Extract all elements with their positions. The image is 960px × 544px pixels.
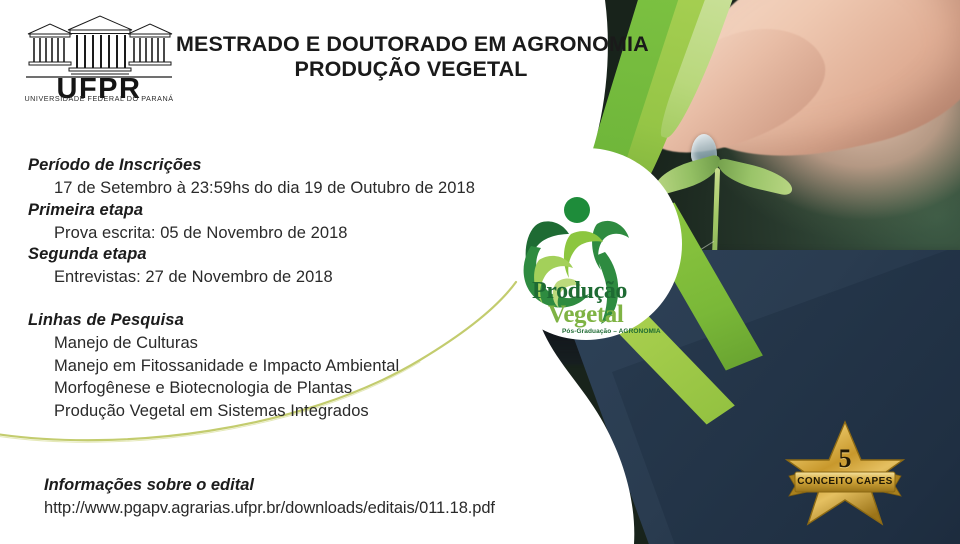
section-heading-primeira-etapa: Primeira etapa bbox=[28, 200, 528, 222]
research-item: Manejo em Fitossanidade e Impacto Ambien… bbox=[28, 355, 548, 378]
research-item: Morfogênese e Biotecnologia de Plantas bbox=[28, 377, 548, 400]
ufpr-logo: UFPR UNIVERSIDADE FEDERAL DO PARANÁ bbox=[24, 12, 174, 104]
pv-word-producao: Produção bbox=[532, 280, 672, 303]
section-item-inscricoes: 17 de Setembro à 23:59hs do dia 19 de Ou… bbox=[28, 177, 528, 200]
section-item-primeira-etapa: Prova escrita: 05 de Novembro de 2018 bbox=[28, 222, 528, 245]
schedule-block: Período de Inscrições 17 de Setembro à 2… bbox=[28, 155, 528, 289]
research-item: Manejo de Culturas bbox=[28, 332, 548, 355]
research-heading: Linhas de Pesquisa bbox=[28, 310, 548, 332]
edital-info-block: Informações sobre o edital http://www.pg… bbox=[44, 474, 604, 520]
edital-heading: Informações sobre o edital bbox=[44, 474, 604, 497]
poster-title: MESTRADO E DOUTORADO EM AGRONOMIA PRODUÇ… bbox=[176, 32, 646, 83]
research-lines-block: Linhas de Pesquisa Manejo de Culturas Ma… bbox=[28, 310, 548, 423]
ufpr-building-icon: UFPR bbox=[24, 12, 174, 104]
gold-star-icon bbox=[781, 418, 909, 530]
title-line-1: MESTRADO E DOUTORADO EM AGRONOMIA bbox=[176, 32, 646, 57]
edital-url-link[interactable]: http://www.pgapv.agrarias.ufpr.br/downlo… bbox=[44, 497, 604, 520]
section-item-segunda-etapa: Entrevistas: 27 de Novembro de 2018 bbox=[28, 266, 528, 289]
pv-word-vegetal: Vegetal bbox=[532, 303, 672, 327]
section-heading-segunda-etapa: Segunda etapa bbox=[28, 244, 528, 266]
capes-rating-number: 5 bbox=[781, 444, 909, 474]
research-item: Produção Vegetal em Sistemas Integrados bbox=[28, 400, 548, 423]
produccao-vegetal-wordmark: Produção Vegetal Pós-Graduação – AGRONOM… bbox=[532, 280, 672, 335]
title-line-2: PRODUÇÃO VEGETAL bbox=[176, 57, 646, 82]
capes-label: CONCEITO CAPES bbox=[781, 476, 909, 487]
ufpr-full-name: UNIVERSIDADE FEDERAL DO PARANÁ bbox=[24, 94, 174, 103]
section-heading-inscricoes: Período de Inscrições bbox=[28, 155, 528, 177]
capes-badge: 5 CONCEITO CAPES bbox=[781, 418, 909, 530]
poster-canvas: UFPR UNIVERSIDADE FEDERAL DO PARANÁ MEST… bbox=[0, 0, 960, 544]
